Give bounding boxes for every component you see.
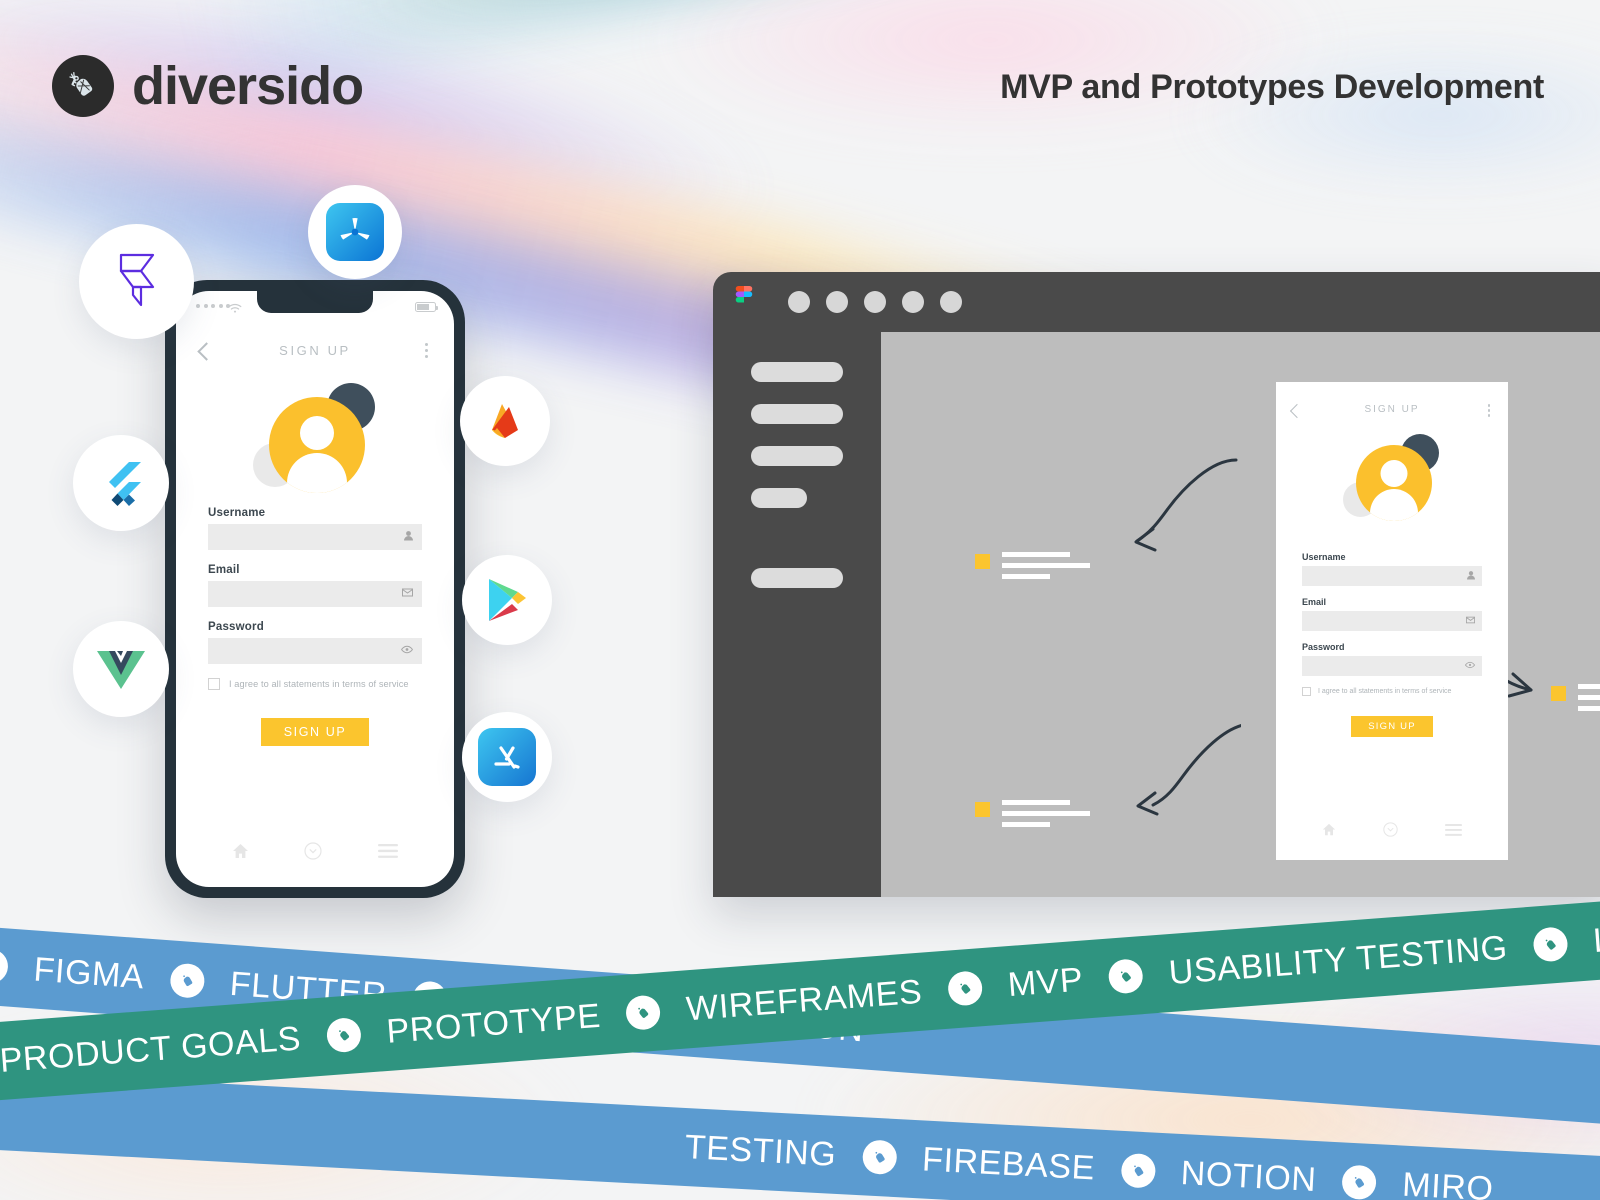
prototype-field-username: Username: [1302, 552, 1482, 586]
prototype-app-bar: SIGN UP: [1276, 404, 1508, 424]
toolbar-circle-3[interactable]: [864, 291, 886, 313]
home-icon[interactable]: [232, 843, 249, 864]
app-bar-title: SIGN UP: [176, 343, 454, 358]
annotation-marker: [975, 802, 990, 817]
sidebar-placeholder-2[interactable]: [751, 404, 843, 424]
annotation-lines: [1578, 684, 1600, 711]
hamburger-menu-icon[interactable]: [1445, 823, 1462, 841]
google-play-icon[interactable]: [462, 555, 552, 645]
field-label: Email: [1302, 597, 1482, 607]
figma-toolbar: [713, 272, 1600, 332]
password-input[interactable]: [208, 638, 422, 664]
ribbon-item: WIREFRAMES: [625, 970, 949, 1033]
toolbar-circle-4[interactable]: [902, 291, 924, 313]
chevron-down-circle-icon[interactable]: [304, 842, 322, 865]
ribbon-item: PRODUCT GOALS: [0, 1017, 328, 1082]
ribbon-label: FIREBASE: [895, 1139, 1122, 1190]
kebab-menu-icon[interactable]: [425, 343, 428, 358]
toolbar-circle-5[interactable]: [940, 291, 962, 313]
person-icon: [1467, 571, 1475, 582]
password-input[interactable]: [1302, 656, 1482, 676]
gecko-logo-icon: [1108, 958, 1144, 994]
sidebar-placeholder-4[interactable]: [751, 488, 807, 508]
bottom-nav: [176, 842, 454, 865]
sidebar-placeholder-3[interactable]: [751, 446, 843, 466]
sidebar-placeholder-5[interactable]: [751, 568, 843, 588]
chevron-down-circle-icon[interactable]: [1383, 822, 1398, 842]
curved-arrow-left-bottom: [1071, 720, 1241, 832]
prototype-app-bar-title: SIGN UP: [1276, 404, 1508, 415]
prototype-frame: SIGN UP Username: [1276, 382, 1508, 860]
field-label: Username: [1302, 552, 1482, 562]
ribbon-label: TESTING: [658, 1126, 863, 1176]
gecko-logo-icon: [52, 55, 114, 117]
terms-agreement[interactable]: I agree to all statements in terms of se…: [208, 678, 422, 690]
ribbon-item: FIGMA: [0, 946, 172, 999]
username-input[interactable]: [208, 524, 422, 550]
ribbon-label: USABILITY TESTING: [1142, 926, 1535, 994]
person-icon: [404, 531, 413, 544]
sidebar-placeholder-1[interactable]: [751, 362, 843, 382]
field-label: Password: [1302, 642, 1482, 652]
prototype-terms-agreement[interactable]: I agree to all statements in terms of se…: [1302, 687, 1482, 696]
toolbar-circle-1[interactable]: [788, 291, 810, 313]
eye-icon[interactable]: [401, 646, 413, 657]
field-email: Email: [208, 564, 422, 607]
avatar-head: [300, 416, 334, 450]
ribbon-label: PROTOTYPE: [359, 994, 628, 1053]
ribbon-item: TESTING: [658, 1126, 863, 1176]
field-label: Username: [208, 507, 422, 519]
page-title: MVP and Prototypes Development: [1000, 68, 1544, 107]
ribbon-item: FIREBASE: [861, 1137, 1122, 1190]
gecko-logo-icon: [947, 970, 983, 1006]
avatar-body: [287, 453, 347, 493]
xcode-icon[interactable]: [462, 712, 552, 802]
ribbon-label: PRODUCT GOALS: [0, 1017, 328, 1082]
prototype-field-password: Password: [1302, 642, 1482, 676]
gecko-logo-icon: [169, 962, 205, 998]
phone-mockup: SIGN UP Username Email: [165, 280, 465, 898]
brand-name: diversido: [132, 59, 363, 113]
gecko-logo-icon: [1342, 1164, 1378, 1200]
user-avatar-illustration: [253, 383, 377, 493]
avatar-yellow-circle: [269, 397, 365, 493]
curved-arrow-left-top: [1071, 454, 1241, 572]
field-password: Password: [208, 621, 422, 664]
email-input[interactable]: [1302, 611, 1482, 631]
phone-screen: SIGN UP Username Email: [176, 291, 454, 887]
kebab-menu-icon[interactable]: [1488, 404, 1491, 417]
figma-window: SIGN UP Username: [713, 272, 1600, 897]
email-input[interactable]: [208, 581, 422, 607]
field-label: Password: [208, 621, 422, 633]
ribbon-label: WIREFRAMES: [659, 970, 950, 1031]
wifi-icon: [228, 301, 242, 319]
ribbon-item: USABILITY TESTING: [1108, 926, 1535, 997]
avatar-yellow-circle: [1356, 445, 1432, 521]
ribbon-item: MVP: [947, 958, 1111, 1009]
ribbon-label: MIRO: [1375, 1164, 1520, 1200]
signup-form: Username Email Password: [208, 507, 422, 746]
gecko-logo-icon: [861, 1139, 897, 1175]
flutter-icon[interactable]: [73, 435, 169, 531]
terms-label: I agree to all statements in terms of se…: [1318, 688, 1451, 695]
gecko-logo-icon: [625, 994, 661, 1030]
figma-logo-icon: [733, 286, 755, 318]
home-icon[interactable]: [1322, 823, 1336, 841]
field-username: Username: [208, 507, 422, 550]
android-studio-icon[interactable]: [308, 185, 402, 279]
ribbon-label: NOTION: [1154, 1152, 1344, 1200]
prototype-bottom-nav: [1276, 822, 1508, 842]
header: diversido MVP and Prototypes Development: [0, 0, 1600, 170]
figma-canvas: SIGN UP Username: [881, 332, 1600, 897]
gecko-logo-icon: [1532, 926, 1568, 962]
app-bar: SIGN UP: [176, 343, 454, 373]
ribbon-item: LAUNCH: [1532, 909, 1600, 965]
terms-label: I agree to all statements in terms of se…: [229, 679, 409, 689]
firebase-icon[interactable]: [460, 376, 550, 466]
prototype-field-email: Email: [1302, 597, 1482, 631]
annotation-marker: [975, 554, 990, 569]
ribbon-label: MVP: [980, 958, 1110, 1006]
figma-sidebar: [713, 332, 881, 897]
envelope-icon: [1466, 617, 1475, 626]
status-bar: [176, 300, 454, 316]
eye-icon[interactable]: [1465, 662, 1475, 671]
framer-icon[interactable]: [79, 224, 194, 339]
hamburger-menu-icon[interactable]: [378, 844, 398, 863]
gecko-logo-icon: [326, 1017, 362, 1053]
ribbon-item: NOTION: [1120, 1150, 1344, 1200]
user-avatar-illustration: [1343, 434, 1441, 522]
prototype-signup-button[interactable]: SIGN UP: [1351, 716, 1433, 737]
signup-button[interactable]: SIGN UP: [261, 718, 369, 746]
prototype-signup-form: Username Email Pas: [1302, 552, 1482, 737]
ribbon-item: PROTOTYPE: [325, 994, 628, 1055]
username-input[interactable]: [1302, 566, 1482, 586]
terms-checkbox[interactable]: [208, 678, 220, 690]
envelope-icon: [402, 589, 413, 600]
field-label: Email: [208, 564, 422, 576]
terms-checkbox[interactable]: [1302, 687, 1311, 696]
signal-dots-icon: [196, 304, 230, 308]
vue-icon[interactable]: [73, 621, 169, 717]
brand-logo[interactable]: diversido: [52, 55, 363, 117]
toolbar-circle-2[interactable]: [826, 291, 848, 313]
ribbon-item: MIRO: [1341, 1162, 1520, 1200]
figma-toolbar-buttons: [788, 291, 962, 313]
battery-icon: [415, 302, 436, 312]
avatar-head: [1381, 460, 1408, 487]
gecko-logo-icon: [1120, 1153, 1156, 1189]
ribbon-label: FIGMA: [6, 948, 171, 999]
ribbon-label: LAUNCH: [1566, 909, 1600, 963]
avatar-body: [1370, 489, 1418, 521]
